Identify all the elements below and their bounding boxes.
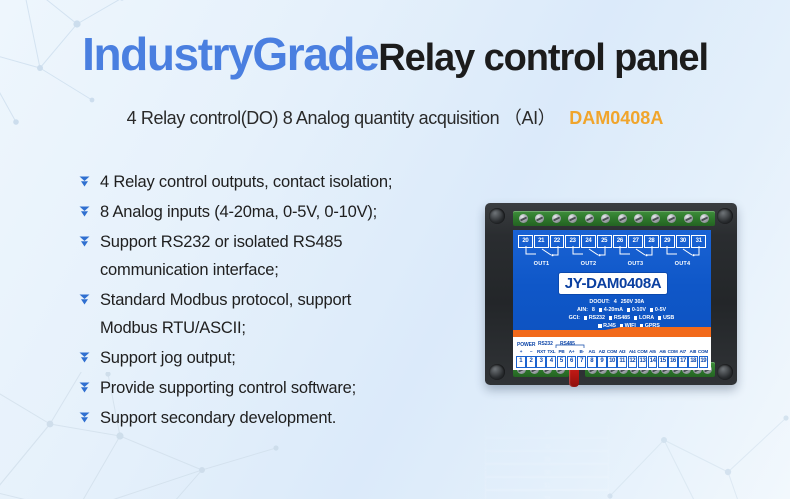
spec-checkbox-item: RS485 [609,314,630,322]
feature-item-line: 8 Analog inputs (4-20ma, 0-5V, 0-10V); [100,198,377,226]
feature-item-line: 4 Relay control outputs, contact isolati… [100,168,392,196]
spec-value-label: 4-20mA [604,306,623,314]
spec-value-label: 0-10V [632,306,646,314]
terminal-screw-icon [519,214,528,223]
product-device-image: 202122232425262728293031 OUT1OUT2OUT3OUT… [477,197,745,397]
spec-value-label: RS232 [589,314,605,322]
feature-item-label: 8 Analog inputs (4-20ma, 0-5V, 0-10V); [100,198,377,226]
spec-checkbox-icon [627,308,630,311]
device-spec-count: 8 [592,306,595,314]
spec-value-label: RS485 [614,314,630,322]
bottom-terminal-number: 13 [638,356,648,368]
relay-terminal-number: 28 [485,464,609,477]
spec-value-label: LORA [639,314,654,322]
terminal-screw-icon [568,214,577,223]
bottom-terminal-number: 3 [536,356,546,368]
relay-output-label-row: OUT1OUT2OUT3OUT4 [485,399,609,407]
device-housing: 202122232425262728293031 OUT1OUT2OUT3OUT… [485,203,737,385]
spec-value-label: 0-5V [655,306,666,314]
orange-wave-band [513,327,711,339]
relay-output-label: OUT4 [659,261,706,267]
feature-item: Support secondary development. [78,404,478,432]
terminal-screw-icon [667,214,676,223]
mounting-hole-icon [717,208,733,224]
double-chevron-down-icon [78,228,100,248]
bottom-terminal-number: 11 [617,356,627,368]
device-faceplate: 202122232425262728293031 OUT1OUT2OUT3OUT… [513,230,711,370]
feature-item-label: Support RS232 or isolated RS485communica… [100,228,342,284]
mounting-hole-icon [489,364,505,380]
feature-item-line: Support secondary development. [100,404,336,432]
product-banner: IndustryGradeRelay control panel 4 Relay… [0,0,790,499]
mounting-hole-icon [489,208,505,224]
device-spec-values: 4-20mA0-10V0-5V [599,306,666,314]
relay-output-label: OUT2 [565,261,612,267]
top-terminal-block [513,211,715,226]
feature-item: Support jog output; [78,344,478,372]
device-spec-key: DOOUT: [580,298,610,306]
bottom-pin-group-labels: +−RXTTXLPBA+B-AI1AI2COMAI3AI4COMAI5AI6CO… [516,340,708,356]
relay-output-label-row: OUT1OUT2OUT3OUT4 [518,261,706,267]
terminal-screw-icon [618,214,627,223]
spec-checkbox-item: 0-10V [627,306,646,314]
relay-output-label: OUT3 [612,261,659,267]
relay-terminal-number: 26 [485,490,609,499]
feature-item-label: Support jog output; [100,344,236,372]
banner-subtitle: 4 Relay control(DO) 8 Analog quantity ac… [0,104,790,130]
feature-item-line: communication interface; [100,256,342,284]
device-spec-line: AIN:84-20mA0-10V0-5V [513,306,711,314]
relay-output-label: OUT1 [485,401,609,407]
relay-terminal-number: 29 [485,451,609,464]
feature-item: Standard Modbus protocol, supportModbus … [78,286,478,342]
spec-checkbox-item: LORA [634,314,654,322]
bottom-terminal-number: 18 [688,356,698,368]
bottom-terminal-number: 16 [668,356,678,368]
relay-terminal-number: 27 [485,477,609,490]
terminal-screw-icon [552,214,561,223]
spec-checkbox-icon [584,316,587,319]
relay-schematic-diagram [485,412,609,423]
feature-item-line: Standard Modbus protocol, support [100,286,351,314]
subtitle-model-code: DAM0408A [569,108,663,128]
bottom-terminal-number: 15 [658,356,668,368]
feature-item: Provide supporting control software; [78,374,478,402]
device-model-plate: JY-DAM0408A [558,272,668,295]
terminal-screw-icon [684,214,693,223]
device-spec-key: AIN: [558,306,588,314]
relay-terminal-number: 31 [485,425,609,438]
device-reflection-copy: 202122232425262728293031 OUT1OUT2OUT3OUT… [485,399,609,499]
spec-checkbox-item: USB [658,314,674,322]
spec-checkbox-icon [658,316,661,319]
bottom-terminal-number: 12 [628,356,638,368]
bottom-terminal-number: 7 [577,356,587,368]
terminal-screw-icon [535,214,544,223]
bottom-terminal-number: 14 [648,356,658,368]
device-spec-list: DOOUT:4250V 30AAIN:84-20mA0-10V0-5VGCI:R… [513,298,711,330]
feature-item-label: Support secondary development. [100,404,336,432]
spec-checkbox-icon [609,316,612,319]
device-spec-line: GCI:RS232RS485LORAUSB [513,314,711,322]
relay-output-label: OUT1 [518,261,565,267]
bottom-terminal-number: 2 [526,356,536,368]
bottom-terminal-number: 9 [597,356,607,368]
feature-item: 4 Relay control outputs, contact isolati… [78,168,478,196]
device-reflection: 202122232425262728293031 OUT1OUT2OUT3OUT… [477,399,745,499]
bottom-terminal-number-row: 12345678910111213141516171819 [516,356,708,368]
double-chevron-down-icon [78,344,100,364]
double-chevron-down-icon [78,374,100,394]
network-pattern-top-left [0,0,192,162]
spec-checkbox-item: 0-5V [650,306,666,314]
double-chevron-down-icon [78,198,100,218]
bottom-terminal-number: 4 [546,356,556,368]
feature-list: 4 Relay control outputs, contact isolati… [78,168,478,434]
spec-checkbox-icon [634,316,637,319]
spec-value-label: 250V 30A [621,298,645,306]
device-spec-values: 250V 30A [621,298,645,306]
bottom-terminal-number: 1 [516,356,526,368]
spec-checkbox-icon [599,308,602,311]
terminal-screw-icon [585,214,594,223]
relay-terminal-number-row: 202122232425262728293031 [485,425,609,499]
feature-item: Support RS232 or isolated RS485communica… [78,228,478,284]
bottom-terminal-number: 8 [587,356,597,368]
feature-item-line: Modbus RTU/ASCII; [100,314,351,342]
feature-item-line: Support jog output; [100,344,236,372]
spec-checkbox-icon [650,308,653,311]
terminal-screw-icon [601,214,610,223]
device-spec-key: GCI: [550,314,580,322]
device-spec-count: 4 [614,298,617,306]
mounting-hole-icon [717,364,733,380]
bottom-terminal-number: 5 [557,356,567,368]
terminal-screw-icon [700,214,709,223]
subtitle-text: 4 Relay control(DO) 8 Analog quantity ac… [127,108,556,128]
feature-item-label: Standard Modbus protocol, supportModbus … [100,286,351,342]
feature-item: 8 Analog inputs (4-20ma, 0-5V, 0-10V); [78,198,478,226]
device-bottom-label: +−RXTTXLPBA+B-AI1AI2COMAI3AI4COMAI5AI6CO… [513,339,711,370]
feature-item-label: 4 Relay control outputs, contact isolati… [100,168,392,196]
device-spec-values: RS232RS485LORAUSB [584,314,674,322]
bottom-terminal-number: 19 [699,356,709,368]
relay-output-label: OUT2 [485,399,609,401]
pin-group-bracket [516,340,708,356]
double-chevron-down-icon [78,168,100,188]
bottom-terminal-number: 17 [678,356,688,368]
relay-schematic-diagram [518,246,706,262]
spec-checkbox-item: RS232 [584,314,605,322]
relay-terminal-number: 30 [485,438,609,451]
network-pattern-bottom-right [600,400,790,499]
feature-item-line: Support RS232 or isolated RS485 [100,228,342,256]
spec-value-item: 250V 30A [621,298,645,306]
headline-product: Relay control panel [378,37,708,79]
spec-checkbox-item: 4-20mA [599,306,623,314]
spec-value-label: USB [663,314,674,322]
feature-item-line: Provide supporting control software; [100,374,356,402]
device-faceplate: 202122232425262728293031 OUT1OUT2OUT3OUT… [485,399,609,499]
terminal-screw-icon [634,214,643,223]
bottom-terminal-number: 10 [607,356,617,368]
bottom-terminal-number: 6 [567,356,577,368]
banner-headline: IndustryGradeRelay control panel [0,31,790,77]
device-spec-line: DOOUT:4250V 30A [513,298,711,306]
terminal-screw-icon [651,214,660,223]
headline-brand: IndustryGrade [82,28,378,80]
double-chevron-down-icon [78,404,100,424]
double-chevron-down-icon [78,286,100,306]
feature-item-label: Provide supporting control software; [100,374,356,402]
